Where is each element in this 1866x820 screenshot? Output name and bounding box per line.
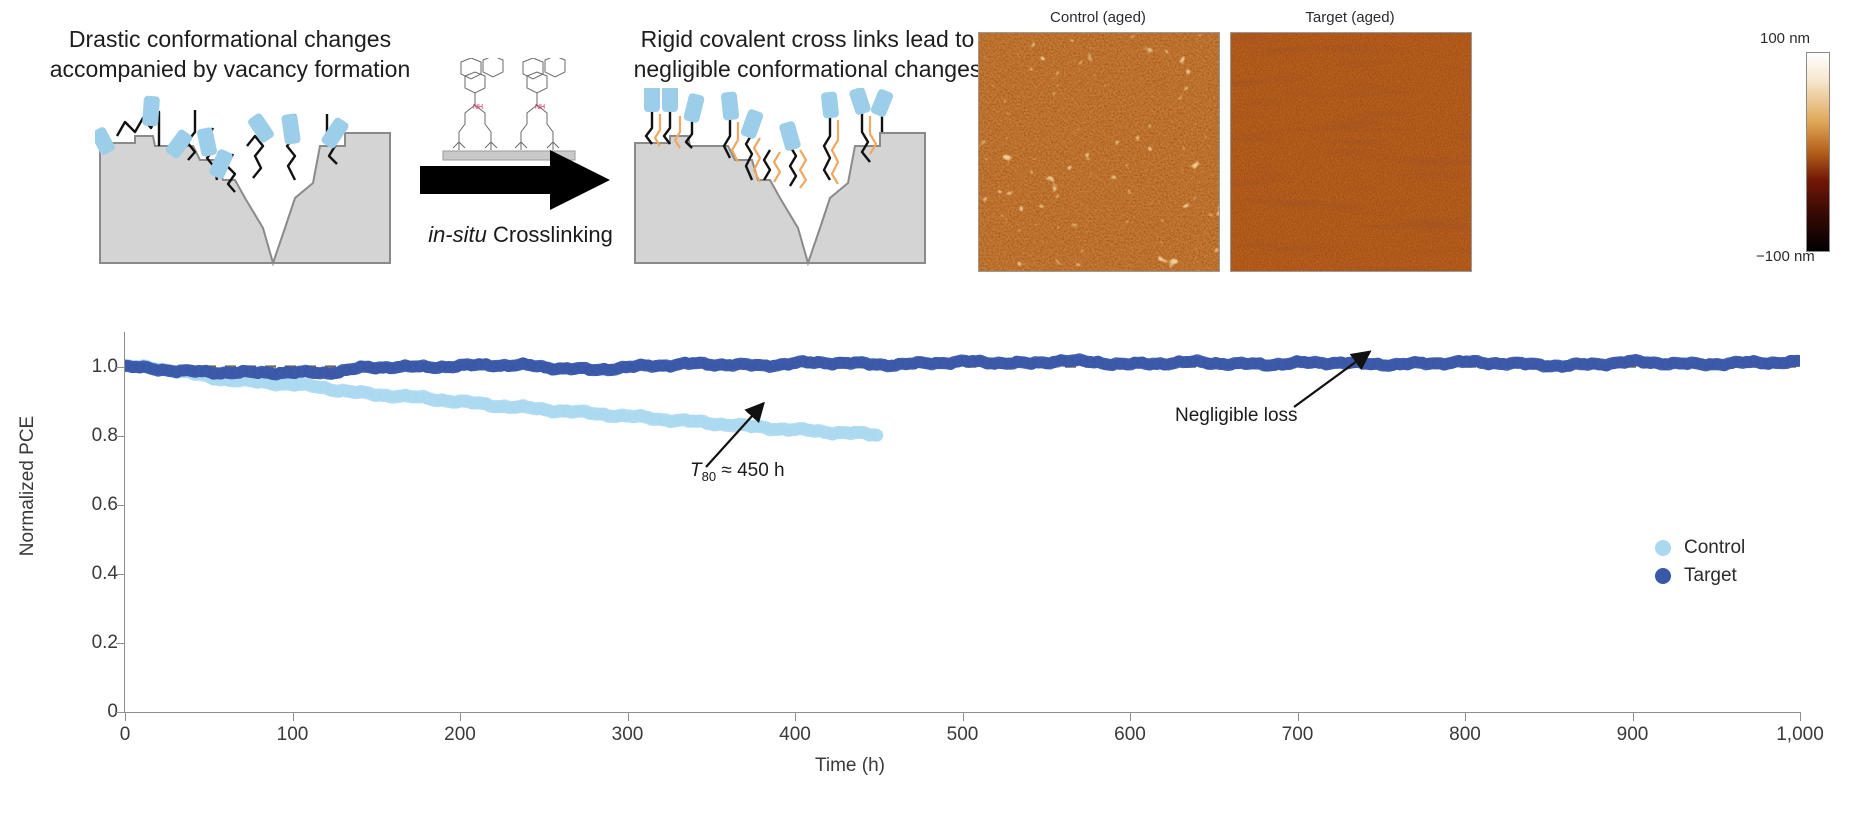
x-tick-mark — [1465, 712, 1466, 721]
right-surface-illustration — [630, 88, 930, 268]
x-tick-mark — [1298, 712, 1299, 721]
x-tick-mark — [1633, 712, 1634, 721]
colorbar-max-label: 100 nm — [1760, 30, 1866, 47]
crosslinking-label-rest: Crosslinking — [487, 222, 613, 247]
x-tick-label: 800 — [1405, 724, 1525, 746]
svg-text:NH: NH — [535, 104, 545, 111]
legend-dot-target-icon — [1655, 568, 1671, 584]
y-tick-mark — [116, 712, 125, 713]
legend-label-control: Control — [1684, 537, 1745, 559]
x-tick-mark — [1130, 712, 1131, 721]
legend-item-target[interactable]: Target — [1655, 563, 1745, 589]
x-tick-label: 900 — [1573, 724, 1693, 746]
x-tick-mark — [795, 712, 796, 721]
y-tick-mark — [116, 505, 125, 506]
y-tick-mark — [116, 436, 125, 437]
x-tick-label: 1,000 — [1740, 724, 1860, 746]
negligible-loss-annotation-label: Negligible loss — [1175, 405, 1298, 427]
x-axis-label: Time (h) — [700, 755, 1000, 777]
afm-image-control — [978, 32, 1220, 272]
left-surface-illustration — [95, 88, 395, 268]
x-tick-label: 700 — [1238, 724, 1358, 746]
y-tick-label: 1.0 — [0, 356, 118, 378]
x-tick-label: 400 — [735, 724, 855, 746]
y-tick-label: 0.8 — [0, 425, 118, 447]
y-tick-label: 0 — [0, 701, 118, 723]
x-tick-mark — [293, 712, 294, 721]
chart-legend: Control Target — [1655, 535, 1745, 591]
x-tick-mark — [963, 712, 964, 721]
legend-label-target: Target — [1684, 565, 1737, 587]
t80-arrow-icon — [700, 395, 840, 475]
afm-image-target — [1230, 32, 1472, 272]
x-tick-label: 100 — [233, 724, 353, 746]
negligible-loss-arrow-icon — [1290, 345, 1430, 415]
legend-item-control[interactable]: Control — [1655, 535, 1745, 561]
series-canvas — [125, 332, 1800, 712]
left-schematic-caption: Drastic conformational changes accompani… — [40, 24, 420, 84]
series-target — [125, 354, 1800, 380]
x-tick-label: 0 — [65, 724, 185, 746]
crosslinking-label: in-situ Crosslinking — [418, 222, 623, 248]
x-tick-mark — [1800, 712, 1801, 721]
pce-stability-chart: Normalized PCE Time (h) 00.20.40.60.81.0… — [0, 300, 1866, 820]
colorbar-min-label: −100 nm — [1756, 248, 1866, 265]
x-tick-label: 500 — [903, 724, 1023, 746]
x-tick-mark — [628, 712, 629, 721]
process-arrow — [420, 150, 610, 210]
afm-colorbar — [1806, 52, 1830, 252]
x-tick-mark — [125, 712, 126, 721]
x-tick-mark — [460, 712, 461, 721]
legend-dot-control-icon — [1655, 540, 1671, 556]
x-tick-label: 300 — [568, 724, 688, 746]
y-tick-mark — [116, 643, 125, 644]
x-tick-label: 200 — [400, 724, 520, 746]
y-tick-label: 0.2 — [0, 632, 118, 654]
svg-text:NH: NH — [473, 104, 483, 111]
afm-panel-title-control: Control (aged) — [978, 9, 1218, 26]
schematic-panel: Drastic conformational changes accompani… — [0, 0, 1866, 290]
right-schematic-caption: Rigid covalent cross links lead to negli… — [610, 24, 1005, 84]
y-tick-label: 0.6 — [0, 494, 118, 516]
x-tick-label: 600 — [1070, 724, 1190, 746]
y-tick-mark — [116, 574, 125, 575]
y-tick-label: 0.4 — [0, 563, 118, 585]
afm-panel-title-target: Target (aged) — [1230, 9, 1470, 26]
crosslinking-label-italic: in-situ — [428, 222, 487, 247]
y-tick-mark — [116, 367, 125, 368]
plot-area — [125, 332, 1800, 712]
